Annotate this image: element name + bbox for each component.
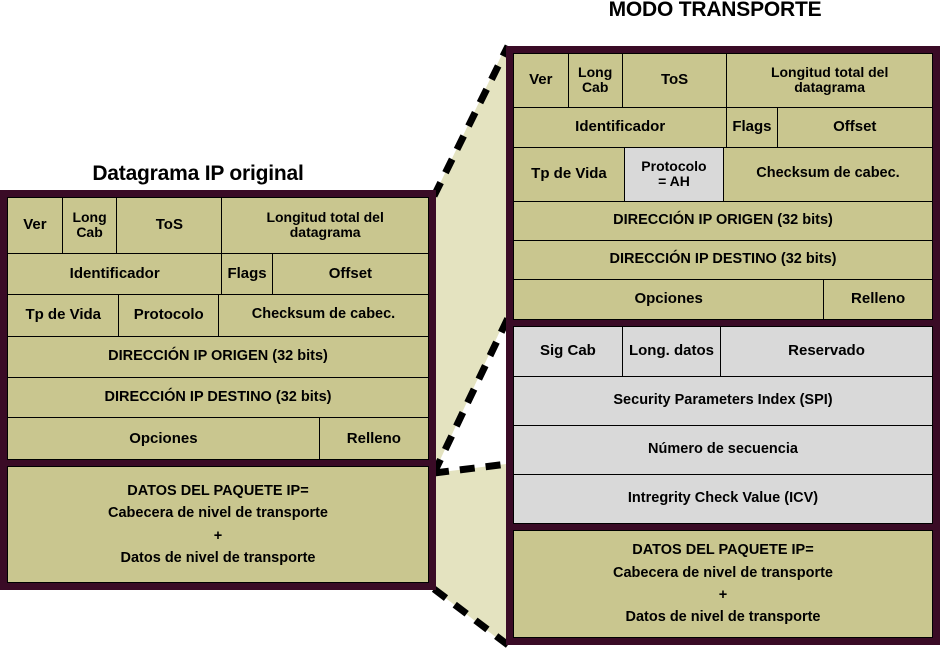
right-payload-group: DATOS DEL PAQUETE IP=Cabecera de nivel d…: [513, 530, 933, 638]
right-ip-cell-offset: Offset: [777, 108, 932, 147]
cell-text-line: Longitud total del: [771, 65, 888, 80]
left-ip-row-word5: DIRECCIÓN IP DESTINO (32 bits): [8, 377, 428, 418]
left-ip-row-word6: OpcionesRelleno: [8, 417, 428, 459]
cell-text-line: Cab: [582, 80, 608, 95]
left-ip-cell-ver: Ver: [8, 198, 62, 253]
left-ip-cell-direcci-n-ip-origen-32-bits: DIRECCIÓN IP ORIGEN (32 bits): [8, 337, 428, 377]
right-payload-cell: DATOS DEL PAQUETE IP=Cabecera de nivel d…: [514, 531, 932, 637]
right-ip-cell-protocolo-ah: Protocolo= AH: [624, 148, 723, 201]
connector-line-bottom: [434, 589, 508, 645]
connector-line-middle-upper: [434, 318, 508, 473]
left-ip-cell-checksum-de-cabec: Checksum de cabec.: [218, 295, 428, 336]
right-ah-row-ah-word3: Número de secuencia: [514, 425, 932, 474]
right-ip-header-group: VerLongCabToSLongitud total deldatagrama…: [513, 53, 933, 320]
cell-text-line: Protocolo: [641, 159, 706, 174]
cell-text-line: = AH: [658, 174, 690, 189]
right-payload-row: DATOS DEL PAQUETE IP=Cabecera de nivel d…: [514, 531, 932, 637]
left-ip-header-group: VerLongCabToSLongitud total deldatagrama…: [7, 197, 429, 460]
right-ip-cell-checksum-de-cabec: Checksum de cabec.: [723, 148, 932, 201]
right-ip-cell-opciones: Opciones: [514, 280, 823, 319]
cell-text-line: Long: [72, 210, 106, 225]
right-ah-row-ah-word4: Intregrity Check Value (ICV): [514, 474, 932, 523]
right-ip-row-word6: OpcionesRelleno: [514, 279, 932, 319]
connector-wedge-lower: [434, 464, 506, 645]
right-panel-title: MODO TRANSPORTE: [490, 0, 940, 22]
left-ip-cell-tos: ToS: [116, 198, 221, 253]
right-ah-cell-intregrity-check-value-icv: Intregrity Check Value (ICV): [514, 475, 932, 523]
right-ip-cell-longitud-total-del-datagrama: Longitud total deldatagrama: [726, 54, 932, 107]
right-ip-row-word1: VerLongCabToSLongitud total deldatagrama: [514, 54, 932, 107]
right-payload-line: +: [719, 584, 727, 606]
right-ip-row-word5: DIRECCIÓN IP DESTINO (32 bits): [514, 240, 932, 279]
left-ip-cell-longitud-total-del-datagrama: Longitud total deldatagrama: [221, 198, 428, 253]
right-payload-line: Datos de nivel de transporte: [626, 606, 821, 628]
left-ip-cell-tp-de-vida: Tp de Vida: [8, 295, 118, 336]
right-ip-row-word2: IdentificadorFlagsOffset: [514, 107, 932, 147]
left-ip-row-word4: DIRECCIÓN IP ORIGEN (32 bits): [8, 336, 428, 377]
right-ip-cell-direcci-n-ip-origen-32-bits: DIRECCIÓN IP ORIGEN (32 bits): [514, 202, 932, 240]
right-ip-cell-long-cab: LongCab: [568, 54, 622, 107]
right-ip-row-word3: Tp de VidaProtocolo= AHChecksum de cabec…: [514, 147, 932, 201]
original-ip-datagram-box: VerLongCabToSLongitud total deldatagrama…: [0, 190, 436, 590]
left-ip-row-word2: IdentificadorFlagsOffset: [8, 253, 428, 295]
right-payload-line: DATOS DEL PAQUETE IP=: [632, 539, 813, 561]
left-ip-cell-offset: Offset: [272, 254, 428, 295]
left-payload-row: DATOS DEL PAQUETE IP=Cabecera de nivel d…: [8, 467, 428, 582]
right-ip-cell-tos: ToS: [622, 54, 727, 107]
left-payload-line: +: [214, 525, 222, 547]
right-ip-cell-relleno: Relleno: [823, 280, 932, 319]
right-ah-header-group: Sig CabLong. datosReservadoSecurity Para…: [513, 326, 933, 524]
right-ip-cell-flags: Flags: [726, 108, 776, 147]
right-ah-cell-n-mero-de-secuencia: Número de secuencia: [514, 426, 932, 474]
right-ip-cell-direcci-n-ip-destino-32-bits: DIRECCIÓN IP DESTINO (32 bits): [514, 241, 932, 279]
right-ip-cell-ver: Ver: [514, 54, 568, 107]
right-payload-line: Cabecera de nivel de transporte: [613, 562, 833, 584]
cell-text-line: Cab: [76, 225, 102, 240]
left-ip-cell-opciones: Opciones: [8, 418, 319, 459]
left-ip-cell-relleno: Relleno: [319, 418, 428, 459]
left-ip-cell-flags: Flags: [221, 254, 271, 295]
left-payload-line: Cabecera de nivel de transporte: [108, 502, 328, 524]
right-ip-cell-tp-de-vida: Tp de Vida: [514, 148, 624, 201]
transport-mode-packet-box: VerLongCabToSLongitud total deldatagrama…: [506, 46, 940, 645]
left-ip-cell-protocolo: Protocolo: [118, 295, 218, 336]
cell-text-line: Long: [578, 65, 612, 80]
cell-text-line: datagrama: [290, 225, 361, 240]
left-ip-cell-direcci-n-ip-destino-32-bits: DIRECCIÓN IP DESTINO (32 bits): [8, 378, 428, 418]
cell-text-line: datagrama: [794, 80, 865, 95]
left-payload-line: Datos de nivel de transporte: [121, 547, 316, 569]
left-ip-row-word1: VerLongCabToSLongitud total deldatagrama: [8, 198, 428, 253]
right-ah-cell-long-datos: Long. datos: [622, 327, 720, 376]
right-ah-cell-reservado: Reservado: [720, 327, 932, 376]
right-ah-row-ah-word2: Security Parameters Index (SPI): [514, 376, 932, 425]
right-ah-cell-sig-cab: Sig Cab: [514, 327, 622, 376]
left-ip-cell-long-cab: LongCab: [62, 198, 117, 253]
right-ip-row-word4: DIRECCIÓN IP ORIGEN (32 bits): [514, 201, 932, 240]
cell-text-line: Longitud total del: [266, 210, 383, 225]
connector-line-top: [434, 46, 508, 196]
left-payload-line: DATOS DEL PAQUETE IP=: [127, 480, 308, 502]
left-ip-cell-identificador: Identificador: [8, 254, 221, 295]
connector-wedge-upper: [434, 46, 506, 473]
left-ip-row-word3: Tp de VidaProtocoloChecksum de cabec.: [8, 294, 428, 336]
right-ip-cell-identificador: Identificador: [514, 108, 726, 147]
left-payload-cell: DATOS DEL PAQUETE IP=Cabecera de nivel d…: [8, 467, 428, 582]
left-panel-title: Datagrama IP original: [0, 162, 396, 186]
left-payload-group: DATOS DEL PAQUETE IP=Cabecera de nivel d…: [7, 466, 429, 583]
connector-line-middle-lower: [434, 464, 508, 473]
right-ah-cell-security-parameters-index-spi: Security Parameters Index (SPI): [514, 377, 932, 425]
right-ah-row-ah-word1: Sig CabLong. datosReservado: [514, 327, 932, 376]
